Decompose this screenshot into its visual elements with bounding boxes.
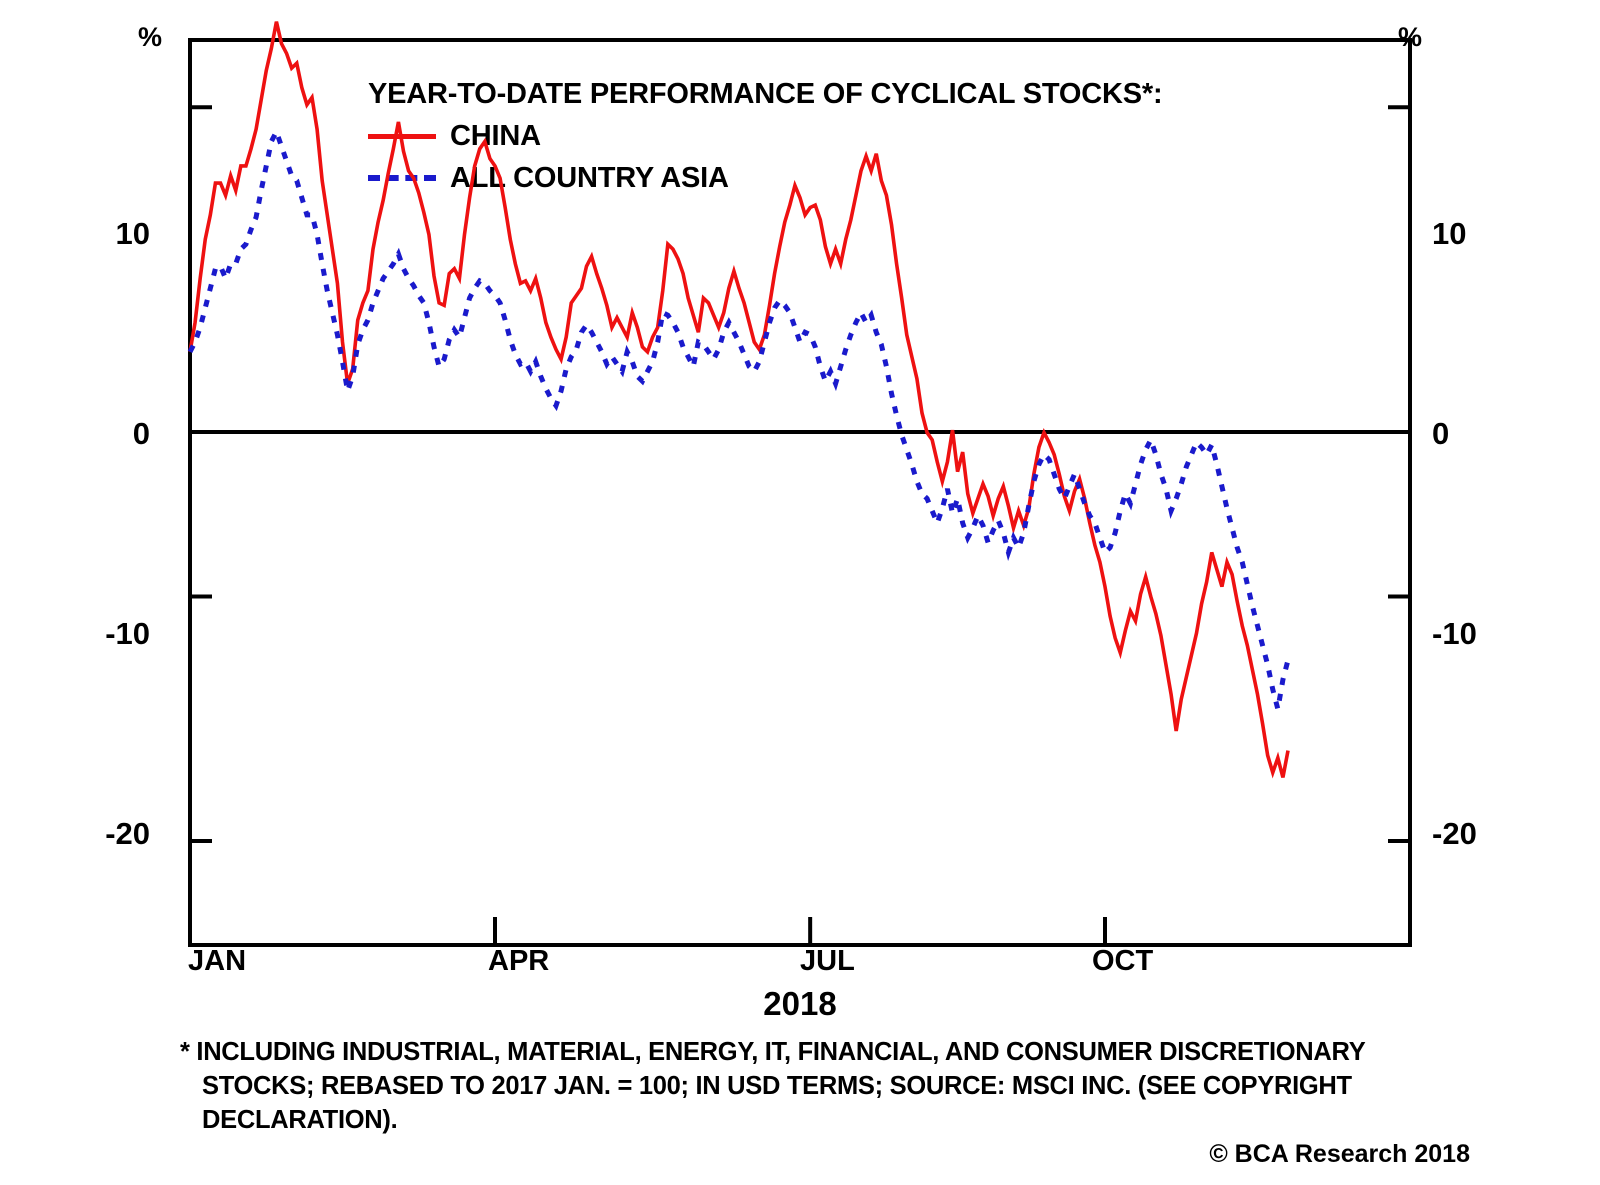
plot-area: [0, 0, 1600, 1185]
series-line-all-country-asia: [190, 132, 1288, 709]
plot-frame: [190, 40, 1410, 945]
chart-footnote: * INCLUDING INDUSTRIAL, MATERIAL, ENERGY…: [180, 1035, 1480, 1137]
copyright-notice: © BCA Research 2018: [1209, 1140, 1470, 1169]
footnote-line-2: STOCKS; REBASED TO 2017 JAN. = 100; IN U…: [180, 1069, 1480, 1103]
axis-ticks: [190, 107, 1410, 945]
chart-figure: % % 10 0 -10 -20 10 0 -10 -20 JAN APR JU…: [0, 0, 1600, 1185]
footnote-line-3: DECLARATION).: [180, 1103, 1480, 1137]
footnote-line-1: * INCLUDING INDUSTRIAL, MATERIAL, ENERGY…: [180, 1035, 1480, 1069]
series-line-china: [190, 22, 1288, 778]
